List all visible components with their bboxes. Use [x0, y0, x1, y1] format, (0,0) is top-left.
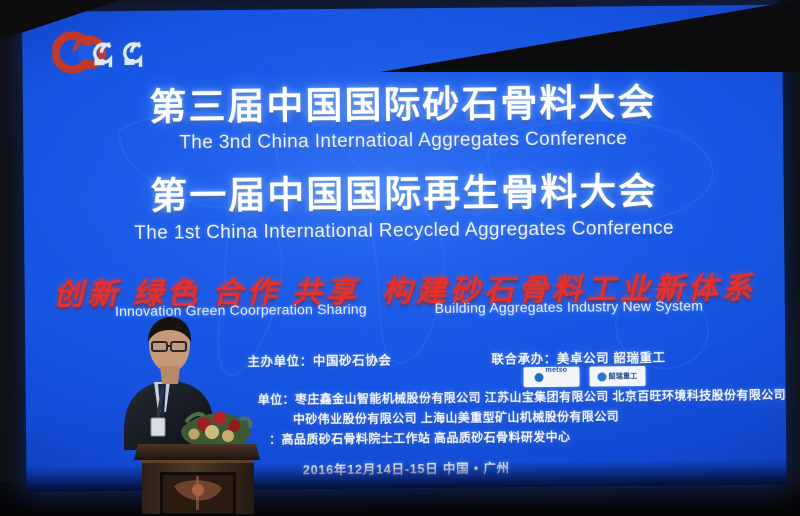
- metso-logo-text: metso: [546, 367, 568, 374]
- shaorui-logo-text: 韶瑞重工: [609, 373, 638, 380]
- shaorui-logo: 韶瑞重工: [589, 366, 645, 387]
- supporting-units-line-1: 单位：枣庄鑫金山智能机械股份有限公司 江苏山宝集团有限公司 北京百旺环境科技股份…: [258, 386, 786, 408]
- metso-mark-icon: [535, 373, 544, 382]
- slogan-en-right: Building Aggregates Industry New System: [419, 297, 719, 316]
- projection-screen: 第三届中国国际砂石骨料大会 The 3nd China Internatioal…: [22, 5, 787, 492]
- conference-title-en-2: The 1st China International Recycled Agg…: [24, 217, 784, 246]
- conference-title-en-1: The 3nd China Internatioal Aggregates Co…: [23, 127, 783, 156]
- conference-title-cn-1: 第三届中国国际砂石骨料大会: [23, 71, 783, 132]
- date-and-location: 2016年12月14日-15日 中国 • 广州: [26, 455, 786, 481]
- conference-photo: 第三届中国国际砂石骨料大会 The 3nd China Internatioal…: [0, 0, 800, 516]
- shaorui-mark-icon: [598, 372, 607, 381]
- metso-logo: metso Expect results: [523, 367, 579, 388]
- caa-logo: [52, 29, 172, 76]
- co-organiser-label: 联合承办：美卓公司 韶瑞重工: [491, 347, 666, 368]
- conference-title-cn-2: 第一届中国国际再生骨料大会: [23, 160, 783, 221]
- host-organisation: 主办单位：中国砂石协会: [247, 349, 391, 369]
- slogan-en-left: Innovation Green Coorperation Sharing: [91, 300, 391, 319]
- supporting-units-line-3: ：高品质砂石骨料院士工作站 高品质砂石骨料研发中心: [269, 428, 570, 448]
- co-organiser-logos: metso Expect results 韶瑞重工: [523, 366, 645, 387]
- supporting-units-line-2: 中砂伟业股份有限公司 上海山美重型矿山机械股份有限公司: [293, 407, 619, 427]
